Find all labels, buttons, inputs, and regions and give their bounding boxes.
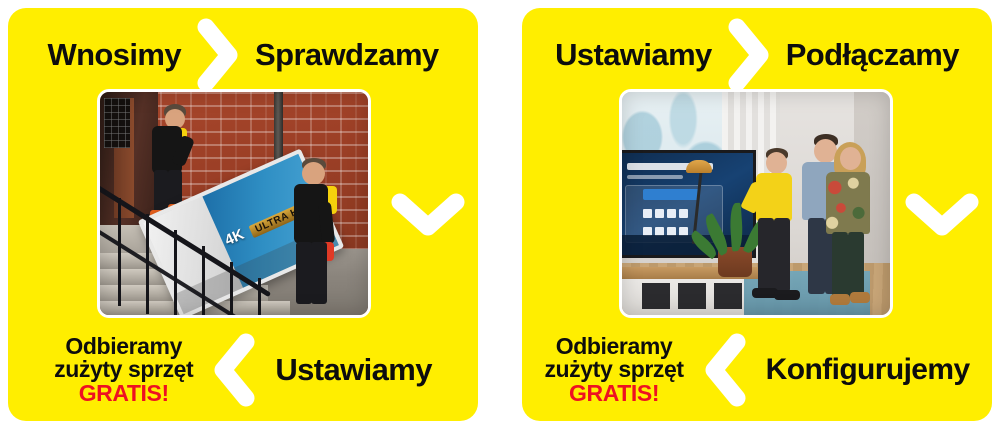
customer-female-shoe [850,292,870,303]
installer-technician [750,148,804,308]
chevron-left-icon [702,333,748,407]
customer-female-trousers [832,232,848,298]
recycling-note-gratis: GRATIS! [569,382,659,405]
infographic-stage: Wnosimy Sprawdzamy [0,0,1000,429]
cabinet-compartment [714,283,742,309]
railing-baluster [146,214,149,314]
service-step-panel-left: Wnosimy Sprawdzamy [8,8,478,421]
installer-trousers [758,218,774,292]
installer-trousers [774,218,790,292]
chevron-down-icon [904,191,980,239]
panel-left-bottom-row: Odbieramy zużyty sprzęt GRATIS! Ustawiam… [8,327,478,413]
stair-railing [100,174,286,315]
railing-baluster [230,262,233,315]
step-label-podlaczamy: Podłączamy [786,39,959,72]
customer-female-trousers [848,232,864,298]
step-label-ustawiamy-bottom: Ustawiamy [275,354,432,387]
railing-handrail [100,184,271,297]
recycling-note-line-1: Odbieramy [65,335,182,358]
recycling-note-gratis: GRATIS! [79,382,169,405]
panel-right-top-row: Ustawiamy Podłączamy [522,24,992,86]
photo-delivery-stairs: 4K ULTRA HD [100,92,368,315]
installer-head [766,152,787,174]
panel-left-top-row: Wnosimy Sprawdzamy [8,24,478,86]
recycling-note-right: Odbieramy zużyty sprzęt GRATIS! [544,335,683,405]
customer-female-shoe [830,294,850,305]
recycling-note-line-2: zużyty sprzęt [54,358,193,381]
step-label-wnosimy: Wnosimy [47,39,181,72]
worker-head [302,162,325,185]
panel-right-bottom-row: Odbieramy zużyty sprzęt GRATIS! Konfigur… [522,327,992,413]
cabinet-compartment [678,283,706,309]
railing-baluster [258,278,261,315]
chevron-left-icon [211,333,257,407]
customer-male-trousers [808,218,825,294]
service-step-panel-right: Ustawiamy Podłączamy [522,8,992,421]
step-label-sprawdzamy: Sprawdzamy [255,39,439,72]
window-grille [104,98,130,148]
worker-leg [311,242,327,304]
worker-leg [296,242,312,304]
tv-menu-subtitle [627,175,683,179]
chevron-right-icon [195,18,241,92]
step-label-konfigurujemy: Konfigurujemy [766,354,970,386]
step-label-ustawiamy-top: Ustawiamy [555,39,712,72]
tv-menu-option-row [643,209,688,218]
customer-female-floral-blouse [826,172,870,234]
floor-lamp-shade [686,160,712,173]
railing-baluster [174,230,177,315]
chevron-right-icon [726,18,772,92]
chevron-down-icon [390,191,466,239]
recycling-note-left: Odbieramy zużyty sprzęt GRATIS! [54,335,193,405]
customer-female [824,142,876,310]
cabinet-compartment [642,283,670,309]
customer-female-head [840,147,861,170]
photo-living-room-setup [622,92,890,315]
installer-shoe [774,290,800,300]
recycling-note-line-1: Odbieramy [556,335,673,358]
worker-front [286,158,348,315]
tv-menu-primary-button [643,189,699,200]
railing-baluster [118,198,121,306]
railing-baluster [202,246,205,315]
recycling-note-line-2: zużyty sprzęt [544,358,683,381]
